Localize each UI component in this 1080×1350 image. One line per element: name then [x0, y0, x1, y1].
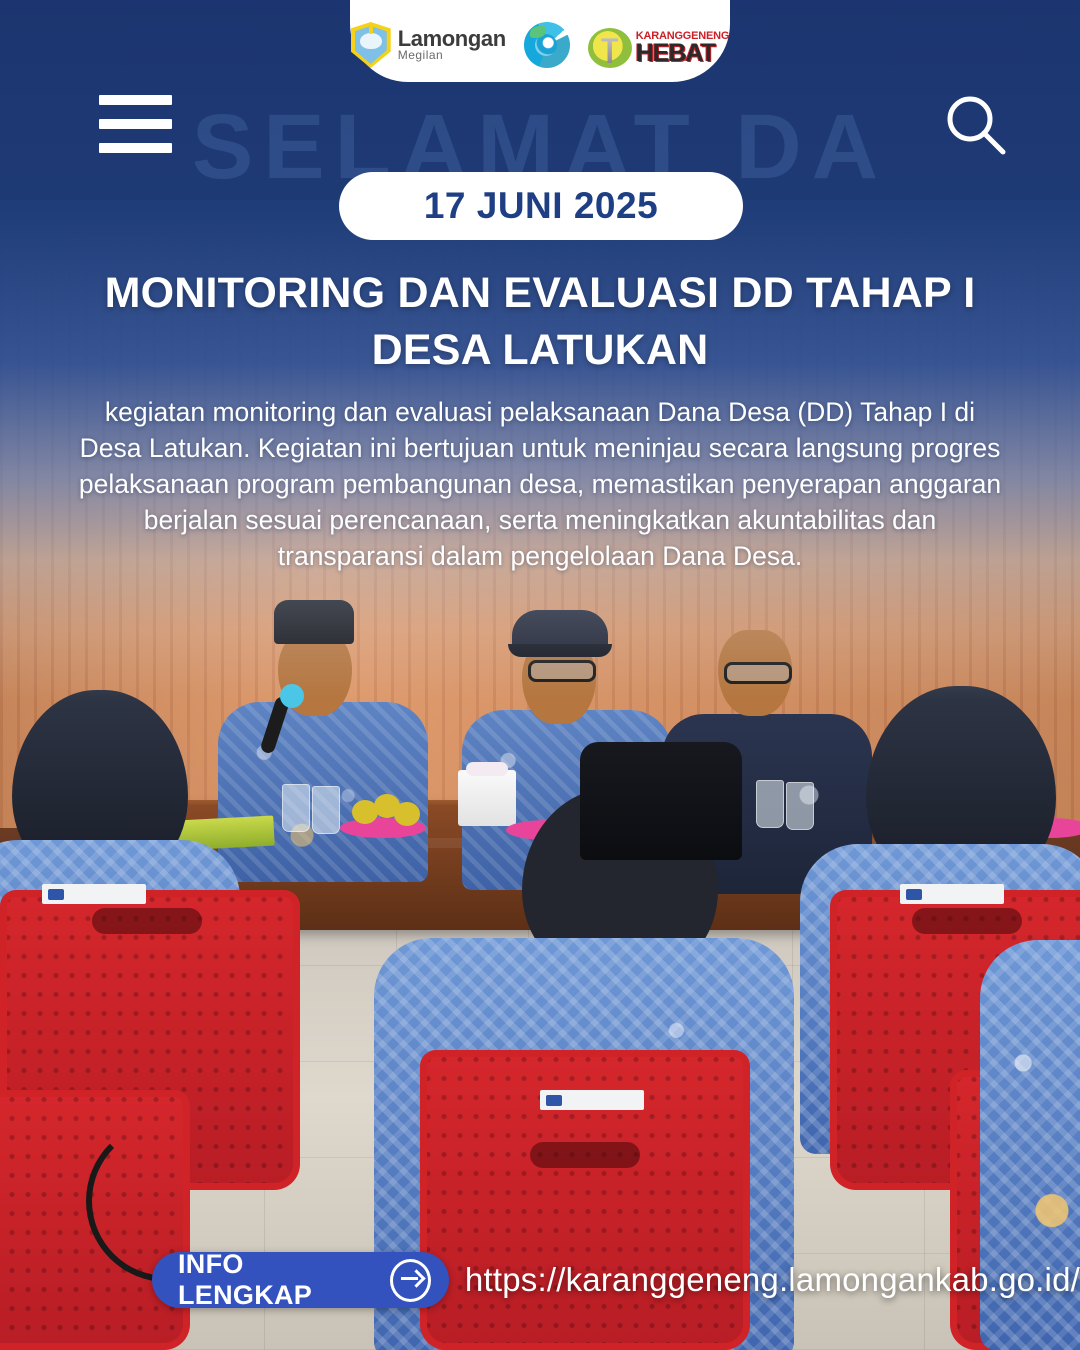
monument-gate-icon	[588, 28, 632, 68]
chair-handle	[92, 908, 202, 934]
logo-card: Lamongan Megilan KARANGGENENG HEBAT	[350, 0, 730, 82]
drinking-glass	[786, 782, 814, 830]
hamburger-menu-icon[interactable]	[99, 95, 172, 153]
search-icon[interactable]	[943, 92, 1009, 158]
chair-handle	[912, 908, 1022, 934]
page-title: MONITORING DAN EVALUASI DD TAHAP I DESA …	[50, 265, 1030, 379]
title-line-2: DESA LATUKAN	[50, 322, 1030, 379]
arrow-right-circle-icon	[390, 1259, 431, 1302]
drinking-glass	[282, 784, 310, 832]
logo-karanggeneng: KARANGGENENG HEBAT	[588, 28, 730, 68]
drinking-glass	[312, 786, 340, 834]
date-badge: 17 JUNI 2025	[339, 172, 743, 240]
website-url[interactable]: https://karanggeneng.lamongankab.go.id/	[465, 1261, 1080, 1299]
dolphin-wave-logo-icon	[524, 22, 570, 68]
poster-canvas: SELAMAT DA Lamongan Megilan KARANGGENENG…	[0, 0, 1080, 1350]
info-lengkap-label: INFO LENGKAP	[178, 1249, 376, 1311]
drinking-glass	[756, 780, 784, 828]
chair-label	[42, 884, 146, 904]
fruit	[394, 802, 420, 826]
lamongan-label: Lamongan	[398, 28, 506, 50]
footer-cta: INFO LENGKAP https://karanggeneng.lamong…	[152, 1252, 1080, 1308]
peci-hat-icon	[580, 742, 742, 860]
megilan-label: Megilan	[398, 50, 506, 62]
chair-handle	[530, 1142, 640, 1168]
lamongan-shield-emblem-icon	[351, 22, 391, 68]
tissue-box	[458, 770, 516, 826]
chair-label	[540, 1090, 644, 1110]
title-line-1: MONITORING DAN EVALUASI DD TAHAP I	[50, 265, 1030, 322]
hebat-label: HEBAT	[636, 42, 730, 65]
chair-label	[900, 884, 1004, 904]
body-paragraph: kegiatan monitoring dan evaluasi pelaksa…	[72, 394, 1008, 574]
info-lengkap-button[interactable]: INFO LENGKAP	[152, 1252, 449, 1308]
logo-lamongan: Lamongan Megilan	[351, 22, 506, 68]
date-badge-label: 17 JUNI 2025	[424, 185, 658, 227]
